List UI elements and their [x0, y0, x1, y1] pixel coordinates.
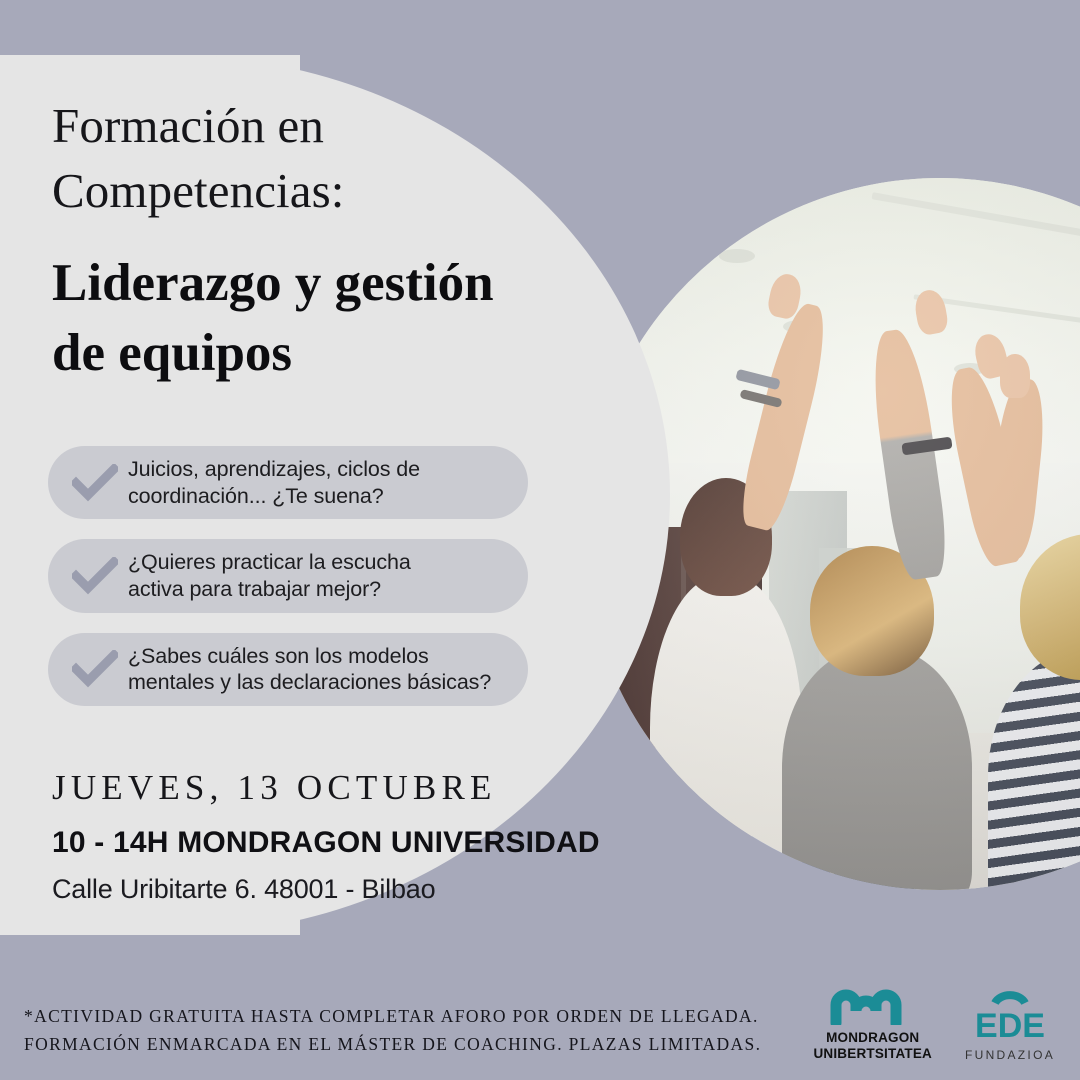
event-address: Calle Uribitarte 6. 48001 - Bilbao: [52, 874, 652, 905]
checklist: Juicios, aprendizajes, ciclos de coordin…: [48, 446, 528, 726]
footnote-line1: *ACTIVIDAD GRATUITA HASTA COMPLETAR AFOR…: [24, 1002, 784, 1030]
list-item-line1: Juicios, aprendizajes, ciclos de: [128, 457, 420, 481]
event-date: JUEVES, 13 OCTUBRE: [52, 768, 652, 808]
list-item-text: ¿Sabes cuáles son los modelos mentales y…: [128, 643, 491, 696]
title-block: Formación en Competencias: Liderazgo y g…: [52, 94, 612, 389]
svg-text:EDE: EDE: [975, 1007, 1045, 1041]
list-item-line1: ¿Sabes cuáles son los modelos: [128, 644, 429, 668]
list-item-line1: ¿Quieres practicar la escucha: [128, 550, 411, 574]
footnote-line2: FORMACIÓN ENMARCADA EN EL MÁSTER DE COAC…: [24, 1030, 784, 1058]
list-item: ¿Quieres practicar la escucha activa par…: [48, 539, 528, 612]
list-item: Juicios, aprendizajes, ciclos de coordin…: [48, 446, 528, 519]
mondragon-wave-mark: [830, 989, 916, 1030]
page-subtitle-line1: Liderazgo y gestión: [52, 249, 612, 319]
event-details: JUEVES, 13 OCTUBRE 10 - 14H MONDRAGON UN…: [52, 768, 652, 905]
poster-content: Formación en Competencias: Liderazgo y g…: [0, 0, 1080, 1080]
check-icon: [66, 646, 124, 692]
list-item: ¿Sabes cuáles son los modelos mentales y…: [48, 633, 528, 706]
page-title-line2: Competencias:: [52, 159, 612, 224]
list-item-line2: mentales y las declaraciones básicas?: [128, 670, 491, 694]
ede-subtitle: FUNDAZIOA: [965, 1048, 1055, 1062]
list-item-line2: coordinación... ¿Te suena?: [128, 484, 384, 508]
event-time-venue: 10 - 14H MONDRAGON UNIVERSIDAD: [52, 826, 652, 860]
ede-arc-mark: EDE: [962, 989, 1058, 1046]
footnote: *ACTIVIDAD GRATUITA HASTA COMPLETAR AFOR…: [24, 1002, 784, 1059]
check-icon: [66, 553, 124, 599]
list-item-line2: activa para trabajar mejor?: [128, 577, 381, 601]
logo-ede: EDE FUNDAZIOA: [962, 989, 1058, 1062]
logo-mondragon: MONDRAGON UNIBERTSITATEA: [813, 989, 932, 1062]
check-icon: [66, 460, 124, 506]
page-title-line1: Formación en: [52, 94, 612, 159]
mondragon-name-line1: MONDRAGON: [826, 1030, 919, 1046]
list-item-text: ¿Quieres practicar la escucha activa par…: [128, 549, 411, 602]
mondragon-name-line2: UNIBERTSITATEA: [813, 1046, 932, 1062]
poster-root: Formación en Competencias: Liderazgo y g…: [0, 0, 1080, 1080]
list-item-text: Juicios, aprendizajes, ciclos de coordin…: [128, 456, 420, 509]
page-subtitle-line2: de equipos: [52, 319, 612, 389]
logo-group: MONDRAGON UNIBERTSITATEA EDE FUNDAZIOA: [813, 989, 1058, 1062]
